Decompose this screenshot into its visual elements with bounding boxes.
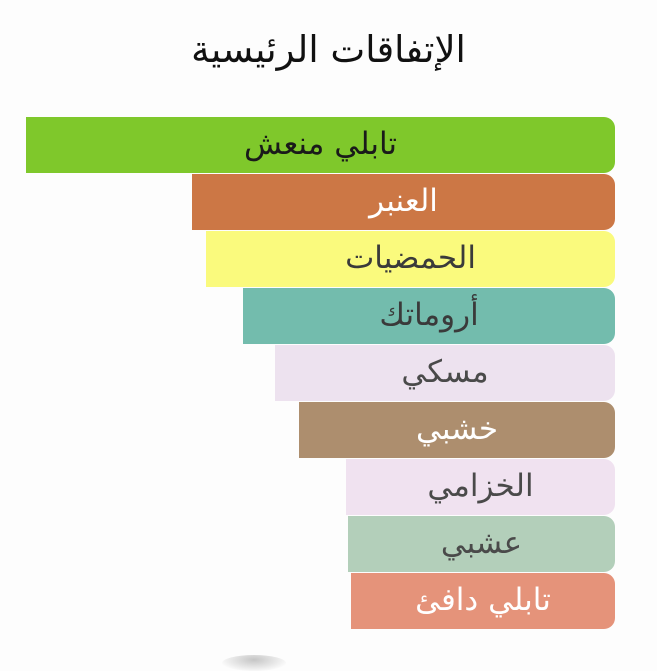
bar-row[interactable]: عشبي — [348, 516, 615, 572]
bar-row[interactable]: تابلي منعش — [26, 117, 615, 173]
bar-row[interactable]: مسكي — [275, 345, 615, 401]
bar-row[interactable]: العنبر — [192, 174, 615, 230]
bar-label: تابلي دافئ — [415, 583, 551, 620]
bottom-shadow-decoration — [222, 655, 286, 671]
bar-row[interactable]: الحمضيات — [206, 231, 615, 287]
bar-label: الخزامي — [427, 469, 533, 506]
bar-row[interactable]: خشبي — [299, 402, 615, 458]
bar-label: الحمضيات — [345, 241, 476, 278]
bars-container: تابلي منعشالعنبرالحمضياتأروماتكمسكيخشبيا… — [0, 117, 657, 627]
bar-label: العنبر — [369, 184, 438, 221]
bar-label: تابلي منعش — [244, 127, 397, 164]
bar-label: أروماتك — [379, 298, 478, 335]
funnel-chart: الإتفاقات الرئيسية تابلي منعشالعنبرالحمض… — [0, 0, 657, 665]
bar-label: عشبي — [441, 526, 522, 563]
bar-row[interactable]: تابلي دافئ — [351, 573, 615, 629]
bar-row[interactable]: أروماتك — [243, 288, 615, 344]
bar-row[interactable]: الخزامي — [346, 459, 615, 515]
chart-title: الإتفاقات الرئيسية — [0, 24, 657, 76]
bar-label: خشبي — [416, 412, 498, 449]
bar-label: مسكي — [401, 355, 488, 392]
